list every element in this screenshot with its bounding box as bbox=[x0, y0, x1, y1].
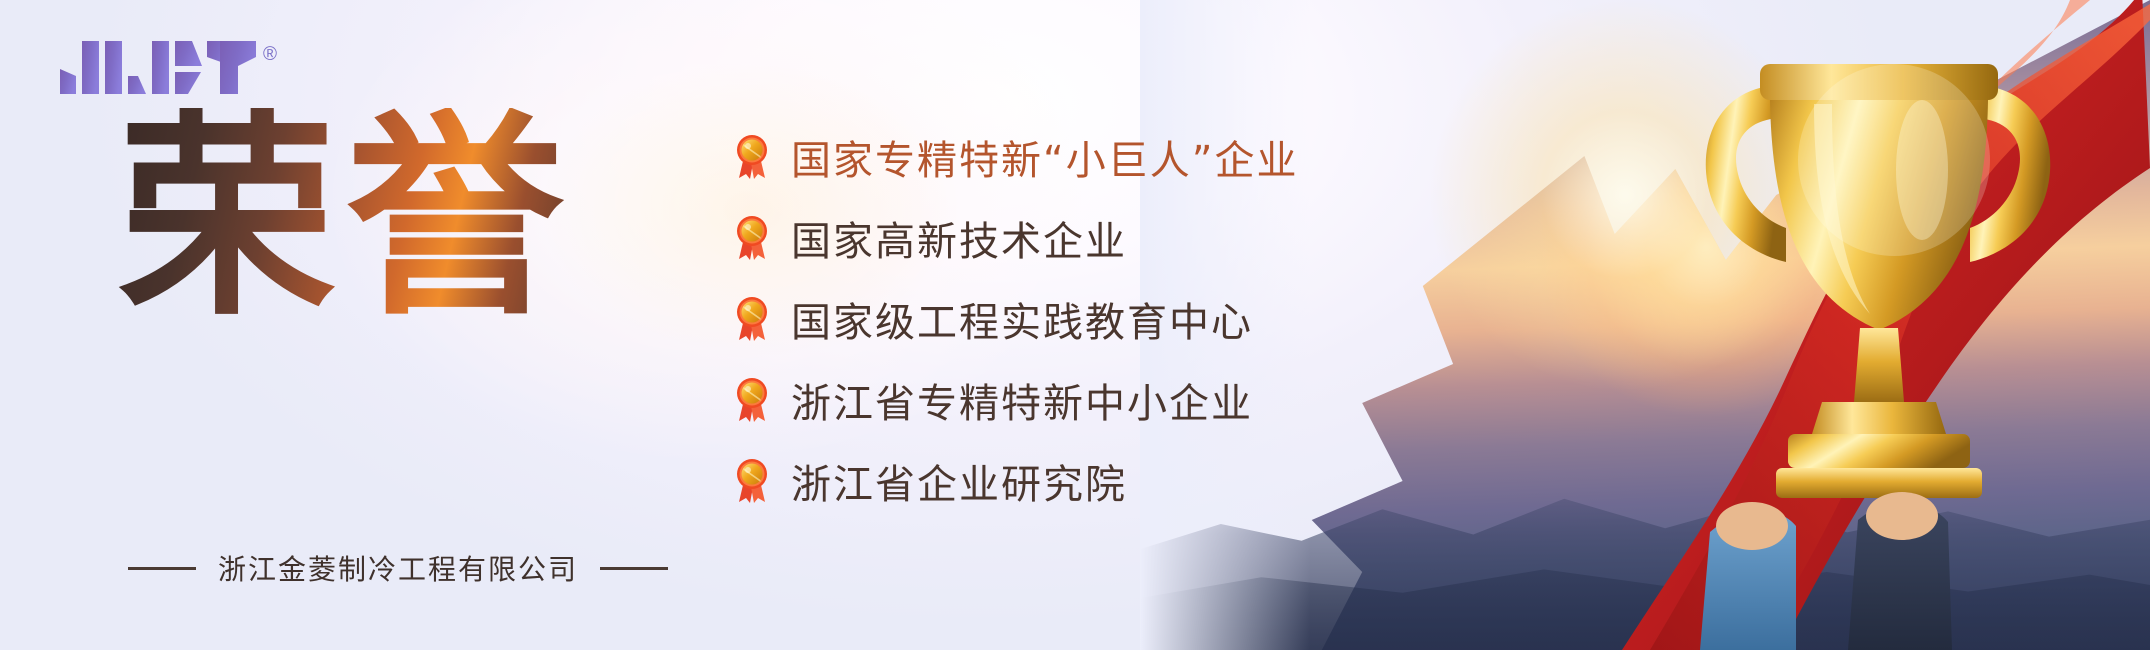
honor-label: 国家专精特新“小巨人”企业 bbox=[791, 128, 1298, 186]
medal-rosette-icon bbox=[735, 135, 769, 179]
jlft-geometric-logo bbox=[60, 32, 256, 94]
honor-label: 国家高新技术企业 bbox=[791, 209, 1127, 267]
honors-list: 国家专精特新“小巨人”企业 国家高新技术企业 bbox=[735, 116, 1298, 521]
medal-rosette-icon bbox=[735, 378, 769, 422]
gold-trophy-icon bbox=[1664, 30, 2094, 530]
honor-label: 浙江省企业研究院 bbox=[791, 452, 1127, 510]
page-title-text: 荣誉 bbox=[118, 108, 574, 330]
medal-rosette-icon bbox=[735, 297, 769, 341]
company-logo[interactable]: ® bbox=[60, 32, 277, 94]
honor-label: 浙江省专精特新中小企业 bbox=[791, 371, 1253, 429]
medal-rosette-icon bbox=[735, 216, 769, 260]
honor-item-1: 国家高新技术企业 bbox=[735, 197, 1298, 278]
honor-item-3: 浙江省专精特新中小企业 bbox=[735, 359, 1298, 440]
raised-hands-icon bbox=[1670, 460, 2000, 650]
honor-item-0: 国家专精特新“小巨人”企业 bbox=[735, 116, 1298, 197]
honor-item-2: 国家级工程实践教育中心 bbox=[735, 278, 1298, 359]
honor-item-4: 浙江省企业研究院 bbox=[735, 440, 1298, 521]
caption-rule-left bbox=[128, 567, 196, 570]
company-caption: 浙江金菱制冷工程有限公司 bbox=[128, 548, 668, 588]
honor-label: 国家级工程实践教育中心 bbox=[791, 290, 1253, 348]
registered-trademark-icon: ® bbox=[263, 45, 277, 64]
honors-banner: ® 荣誉 浙江金菱制冷工程有限公司 bbox=[0, 0, 2150, 650]
company-name: 浙江金菱制冷工程有限公司 bbox=[218, 548, 578, 588]
caption-rule-right bbox=[600, 567, 668, 570]
page-title: 荣誉 bbox=[118, 108, 574, 330]
medal-rosette-icon bbox=[735, 459, 769, 503]
